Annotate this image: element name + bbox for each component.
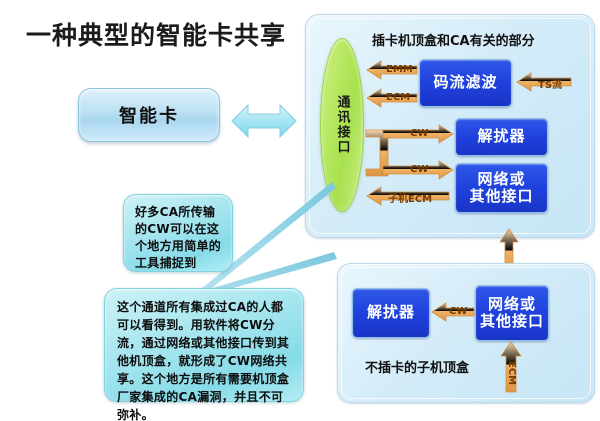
smart-card-label: 智能卡 (119, 102, 179, 128)
descrambler-box-bottom: 解扰器 (352, 288, 430, 338)
stream-filter-label: 码流滤波 (433, 74, 497, 91)
network-interface-box-bottom: 网络或 其他接口 (475, 285, 549, 341)
cw-arrow-bottom: CW (431, 302, 475, 322)
descrambler-box-top: 解扰器 (455, 118, 548, 156)
cw-arrow-lower: CW (382, 160, 454, 180)
communication-interface-label: 通讯接口 (333, 95, 352, 155)
diagram-canvas: 一种典型的智能卡共享 智能卡 插卡机顶盒和CA有关的部分 通讯接口 码流滤波 (0, 0, 600, 421)
cardless-set-top-box-caption: 不插卡的子机顶盒 (365, 357, 469, 376)
ecm-arrow: ECM (366, 88, 418, 108)
network-interface-box-top: 网络或 其他接口 (455, 163, 548, 213)
descrambler-label-bottom: 解扰器 (367, 304, 415, 321)
set-top-box-panel-caption: 插卡机顶盒和CA有关的部分 (372, 30, 535, 49)
descrambler-label-top: 解扰器 (477, 128, 525, 145)
stream-filter-box: 码流滤波 (419, 59, 512, 107)
network-interface-label-top: 网络或 其他接口 (469, 171, 533, 206)
sub-terminal-ecm-arrow: 子机ECM (366, 186, 450, 206)
emm-arrow: EMM (366, 60, 418, 80)
page-title: 一种典型的智能卡共享 (26, 16, 286, 52)
ecm-arrow-bottom: ECM (500, 341, 522, 393)
ts-stream-arrow: TS流 (516, 72, 572, 92)
smart-card-box: 智能卡 (78, 88, 220, 142)
callout-ca-hole: 这个通道所有集成过CA的人都可以看得到。用软件将CW分流，通过网络或其他接口传到… (104, 288, 304, 402)
exchange-double-arrow (230, 101, 298, 141)
callout-ca-hole-text: 这个通道所有集成过CA的人都可以看得到。用软件将CW分流，通过网络或其他接口传到… (117, 298, 293, 421)
callout-cw-capture: 好多CA所传输的CW可以在这个地方用简单的工具捕捉到 (123, 194, 233, 272)
cw-arrow-upper: CW (382, 124, 454, 144)
network-interface-label-bottom: 网络或 其他接口 (480, 296, 544, 331)
callout-cw-capture-text: 好多CA所传输的CW可以在这个地方用简单的工具捕捉到 (135, 204, 222, 272)
